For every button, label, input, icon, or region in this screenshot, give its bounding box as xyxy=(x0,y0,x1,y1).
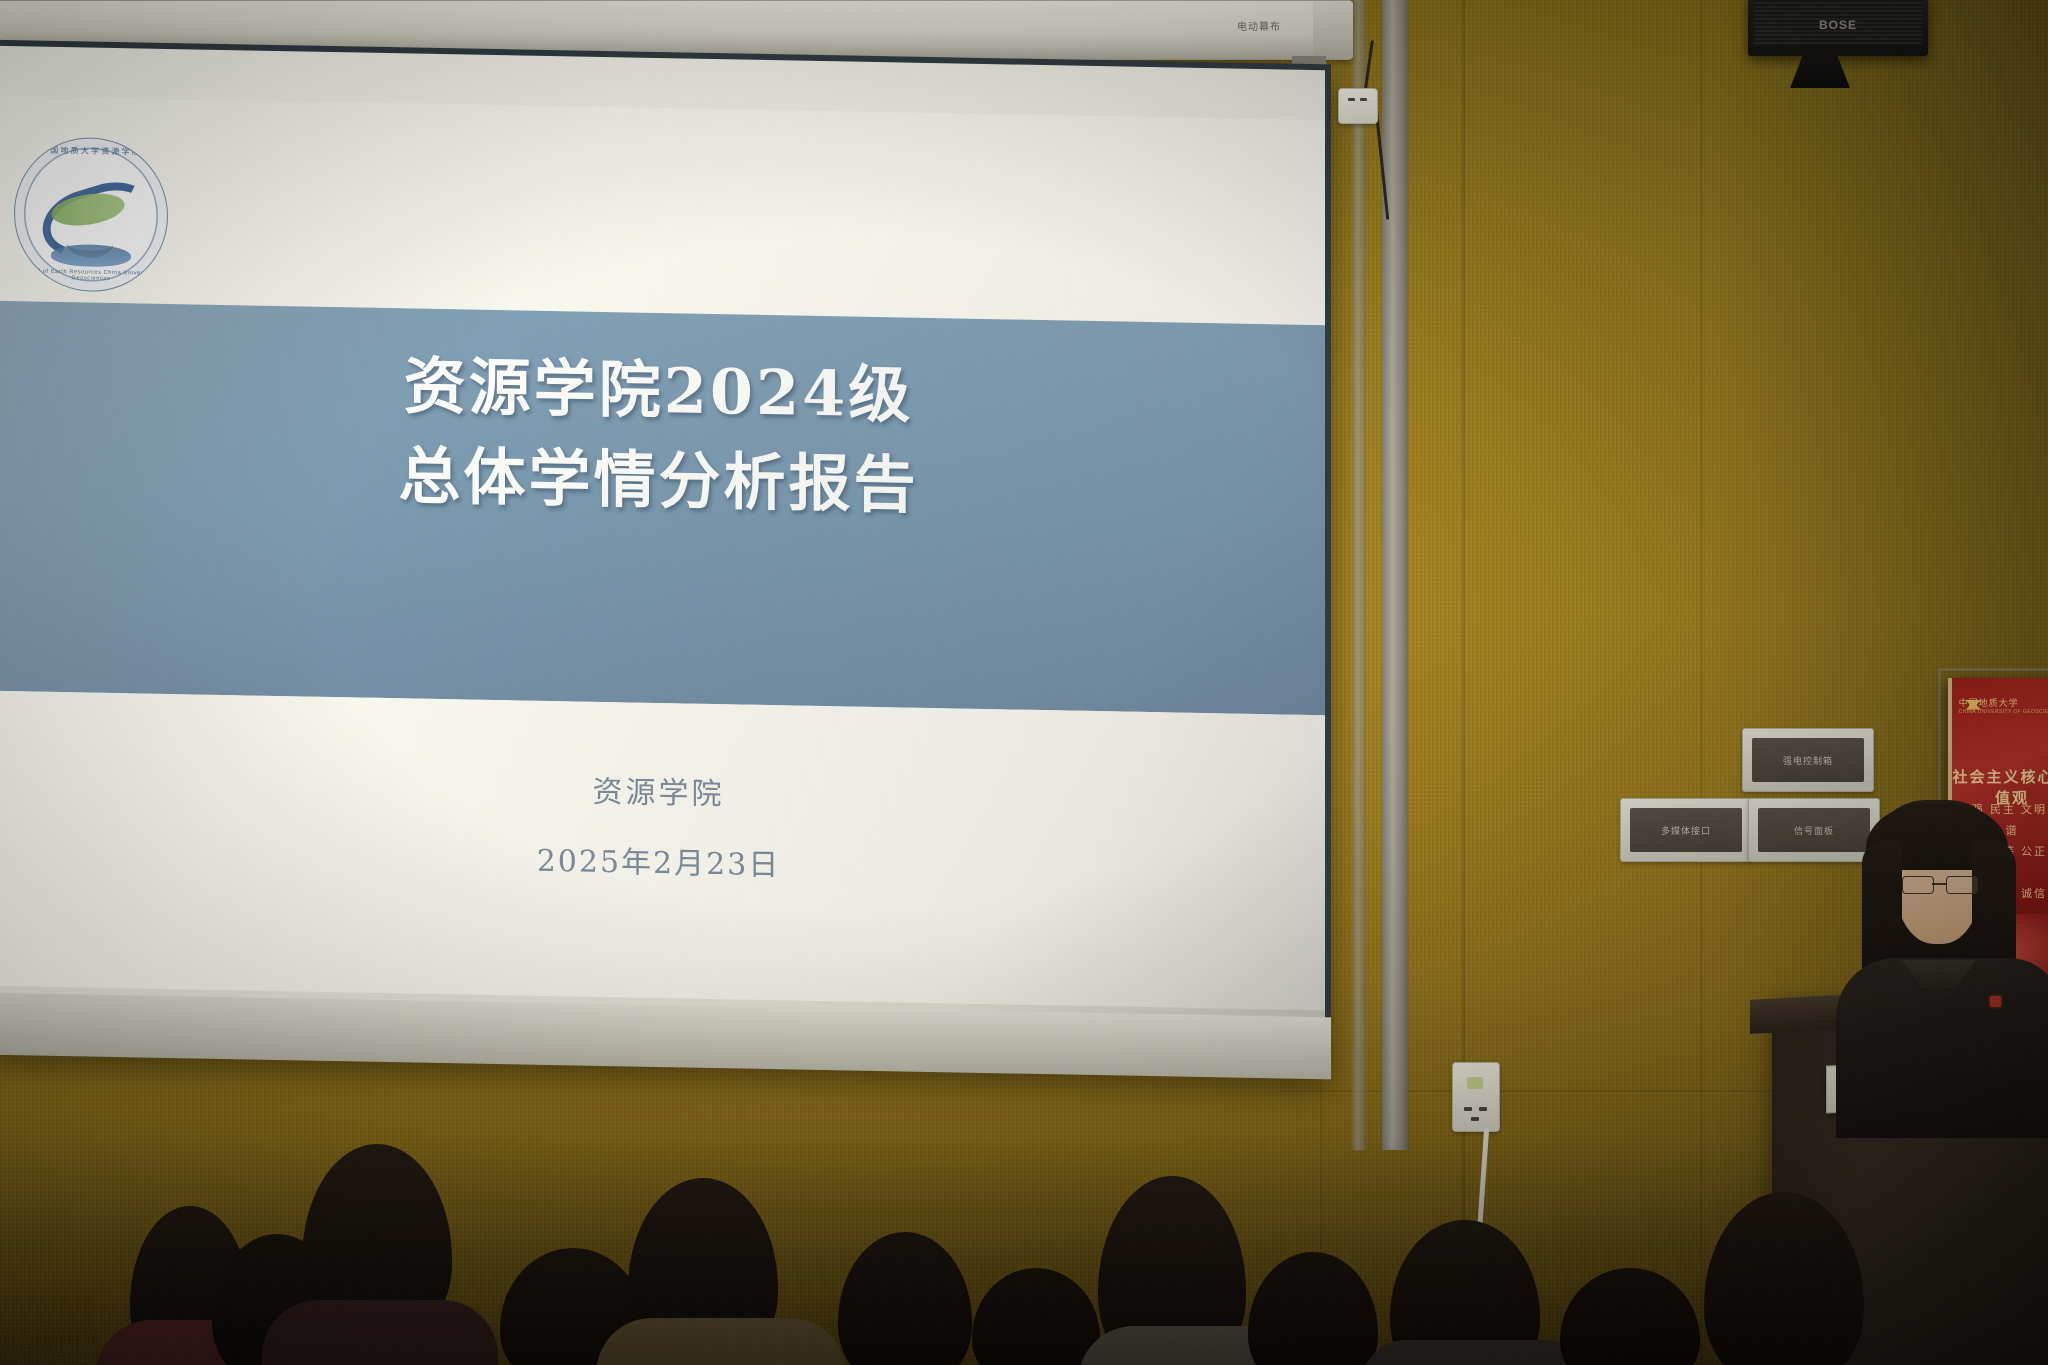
presenter-badge xyxy=(1990,996,2001,1007)
audience-shoulders xyxy=(262,1300,498,1365)
slide-top-band xyxy=(0,96,1325,325)
wall-pillar-edge xyxy=(1352,0,1366,1150)
control-plate-left[interactable]: 多媒体接口 xyxy=(1620,798,1752,862)
projection-screen: 中国地质大学资源学院 School of Earth Resources Chi… xyxy=(0,40,1331,1075)
control-plate-left-window: 多媒体接口 xyxy=(1630,808,1742,852)
presentation-slide: 中国地质大学资源学院 School of Earth Resources Chi… xyxy=(0,96,1325,1010)
presenter xyxy=(1840,800,2048,1130)
screen-housing-endcap xyxy=(1313,1,1353,59)
control-plate-top[interactable]: 强电控制箱 xyxy=(1742,728,1874,792)
projection-screen-surface: 中国地质大学资源学院 School of Earth Resources Chi… xyxy=(0,46,1325,1068)
wall-panel-seam xyxy=(1700,0,1703,1365)
audience-shoulders xyxy=(1362,1340,1590,1365)
wall-loudspeaker-icon: BOSE xyxy=(1748,0,1928,56)
wall-socket[interactable] xyxy=(1338,88,1378,124)
presenter-glasses-icon xyxy=(1902,876,1976,892)
banner-brand: 中国地质大学 CHINA UNIVERSITY OF GEOSCIENCES xyxy=(1959,696,2048,715)
wall-power-socket[interactable] xyxy=(1452,1062,1500,1132)
wall-pillar-strip xyxy=(1382,0,1408,1150)
slide-title-line1: 资源学院2024级 xyxy=(404,349,914,431)
crest-wave xyxy=(51,244,131,267)
audience-shoulders xyxy=(596,1318,846,1365)
wall-panel-seam xyxy=(1462,0,1465,1365)
university-crest-icon: 中国地质大学资源学院 School of Earth Resources Chi… xyxy=(14,136,168,293)
lecture-hall-photo: 电动幕布 中国地质大学资源学院 School of Earth Resource… xyxy=(0,0,2048,1365)
screen-housing-label: 电动幕布 xyxy=(1237,18,1281,33)
slide-title: 资源学院2024级 总体学情分析报告 xyxy=(0,334,1325,538)
speaker-brand-label: BOSE xyxy=(1819,18,1857,32)
control-plate-top-window: 强电控制箱 xyxy=(1752,738,1864,782)
